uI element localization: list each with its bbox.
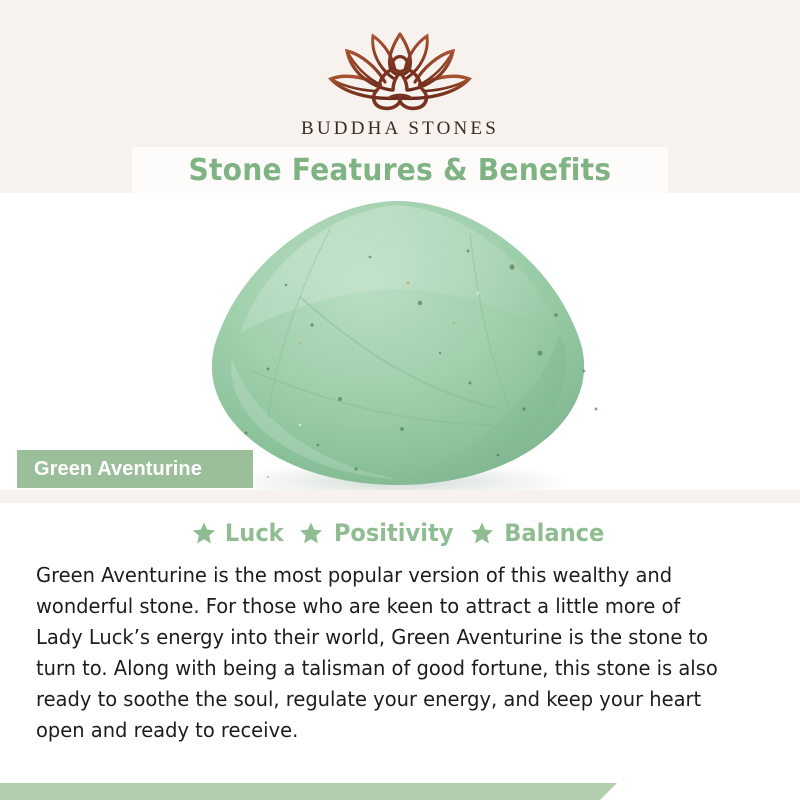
stone-photo-image	[0, 193, 800, 490]
benefit-label: Luck	[225, 519, 284, 547]
star-icon	[299, 521, 323, 545]
benefit-item: Balance	[470, 519, 608, 547]
benefit-label: Balance	[504, 519, 604, 547]
brand-name: BUDDHA STONES	[301, 118, 499, 140]
frame-border-bottom	[0, 783, 617, 800]
title-banner: Stone Features & Benefits	[132, 147, 668, 193]
content-section: Luck Positivity Balance Green Aventurine…	[0, 503, 800, 783]
stone-name-bar: Green Aventurine	[17, 450, 253, 488]
benefit-item: Luck	[192, 519, 286, 547]
lotus-meditation-logo-icon	[305, 24, 495, 114]
benefits-list: Luck Positivity Balance	[0, 519, 800, 547]
stone-photo	[0, 193, 800, 490]
star-icon	[470, 521, 494, 545]
stone-description: Green Aventurine is the most popular ver…	[36, 560, 731, 746]
section-separator	[0, 490, 800, 503]
benefit-item: Positivity	[299, 519, 457, 547]
infographic-page: BUDDHA STONES Stone Features & Benefits	[0, 0, 800, 800]
stone-name: Green Aventurine	[34, 458, 202, 481]
benefit-label: Positivity	[334, 519, 454, 547]
star-icon	[192, 521, 216, 545]
page-title: Stone Features & Benefits	[189, 153, 612, 188]
brand-logo: BUDDHA STONES	[0, 24, 800, 140]
